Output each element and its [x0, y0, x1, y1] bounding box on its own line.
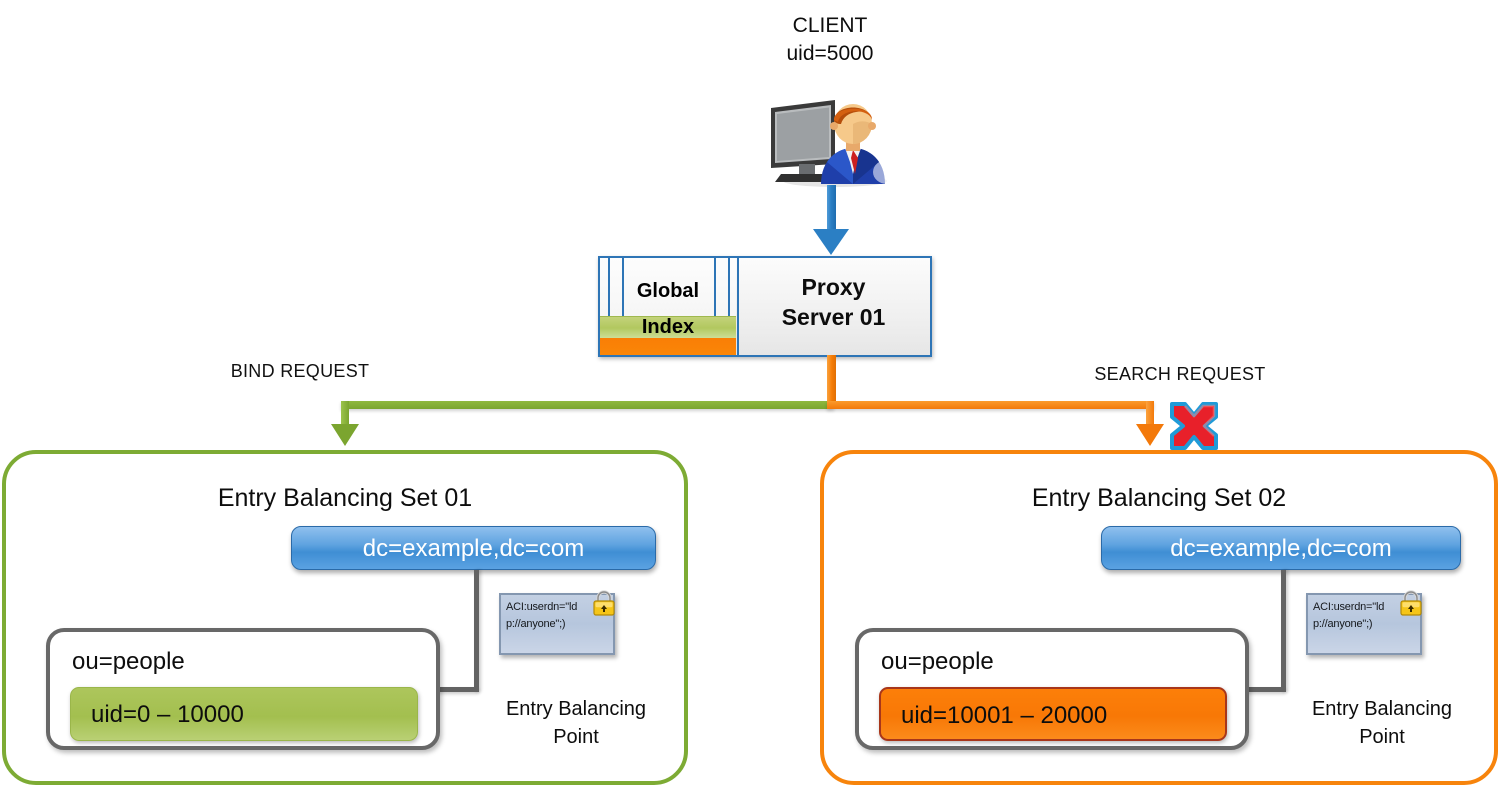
set-02-ebp-line1: Entry Balancing: [1292, 696, 1472, 724]
global-index-orange-band: [600, 338, 736, 355]
search-request-trunk: [827, 401, 1154, 409]
global-index-label-2: Index: [600, 316, 736, 338]
lock-icon: [589, 587, 619, 617]
red-x-icon: [1166, 400, 1222, 452]
set-01-entry-balancing-point-label: Entry Balancing Point: [486, 696, 666, 751]
client-title: CLIENT: [793, 14, 868, 37]
set-01-connector-horizontal: [436, 687, 479, 692]
set-01-connector-vertical: [474, 570, 479, 692]
bind-request-trunk: [341, 401, 834, 409]
set-02-connector-vertical: [1281, 570, 1286, 692]
bind-request-label: BIND REQUEST: [150, 361, 450, 382]
global-index-label: Global: [600, 280, 736, 303]
set-02-uid-range-band: uid=10001 – 20000: [879, 687, 1227, 741]
set-01-dn-pill: dc=example,dc=com: [291, 526, 656, 570]
set-02-entry-balancing-point-label: Entry Balancing Point: [1292, 696, 1472, 751]
lock-icon: [1396, 587, 1426, 617]
set-01-ebp-line2: Point: [486, 724, 666, 752]
proxy-server-title: Proxy Server 01: [737, 272, 930, 333]
user-at-computer-icon: [757, 88, 907, 188]
set-02-dn-pill: dc=example,dc=com: [1101, 526, 1461, 570]
set-01-ou-label: ou=people: [72, 648, 185, 676]
set-02-connector-horizontal: [1245, 687, 1286, 692]
search-request-label: SEARCH REQUEST: [1030, 364, 1330, 385]
diagram-canvas: CLIENT uid=5000: [0, 0, 1500, 795]
proxy-server-title-line2: Server 01: [737, 302, 930, 332]
set-02-aci-box: ACI:userdn="ld p://anyone";): [1306, 593, 1422, 655]
set-02-aci-line2: p://anyone";): [1313, 616, 1415, 633]
bind-request-arrowhead-icon: [331, 424, 359, 446]
client-uid: uid=5000: [700, 40, 960, 68]
set-02-ebp-line2: Point: [1292, 724, 1472, 752]
set-02-title: Entry Balancing Set 02: [824, 484, 1494, 513]
set-01-title: Entry Balancing Set 01: [6, 484, 684, 513]
set-01-aci-line2: p://anyone";): [506, 616, 608, 633]
set-01-ebp-line1: Entry Balancing: [486, 696, 666, 724]
client-to-proxy-arrowhead-icon: [813, 229, 849, 255]
client-label: CLIENT uid=5000: [700, 12, 960, 69]
set-01-uid-range-band: uid=0 – 10000: [70, 687, 418, 741]
set-01-ou-people-box: ou=people uid=0 – 10000: [46, 628, 440, 750]
proxy-server-title-line1: Proxy: [737, 272, 930, 302]
set-01-aci-box: ACI:userdn="ld p://anyone";): [499, 593, 615, 655]
search-request-arrowhead-icon: [1136, 424, 1164, 446]
set-02-ou-people-box: ou=people uid=10001 – 20000: [855, 628, 1249, 750]
search-request-drop-from-proxy: [827, 355, 836, 407]
set-02-ou-label: ou=people: [881, 648, 994, 676]
